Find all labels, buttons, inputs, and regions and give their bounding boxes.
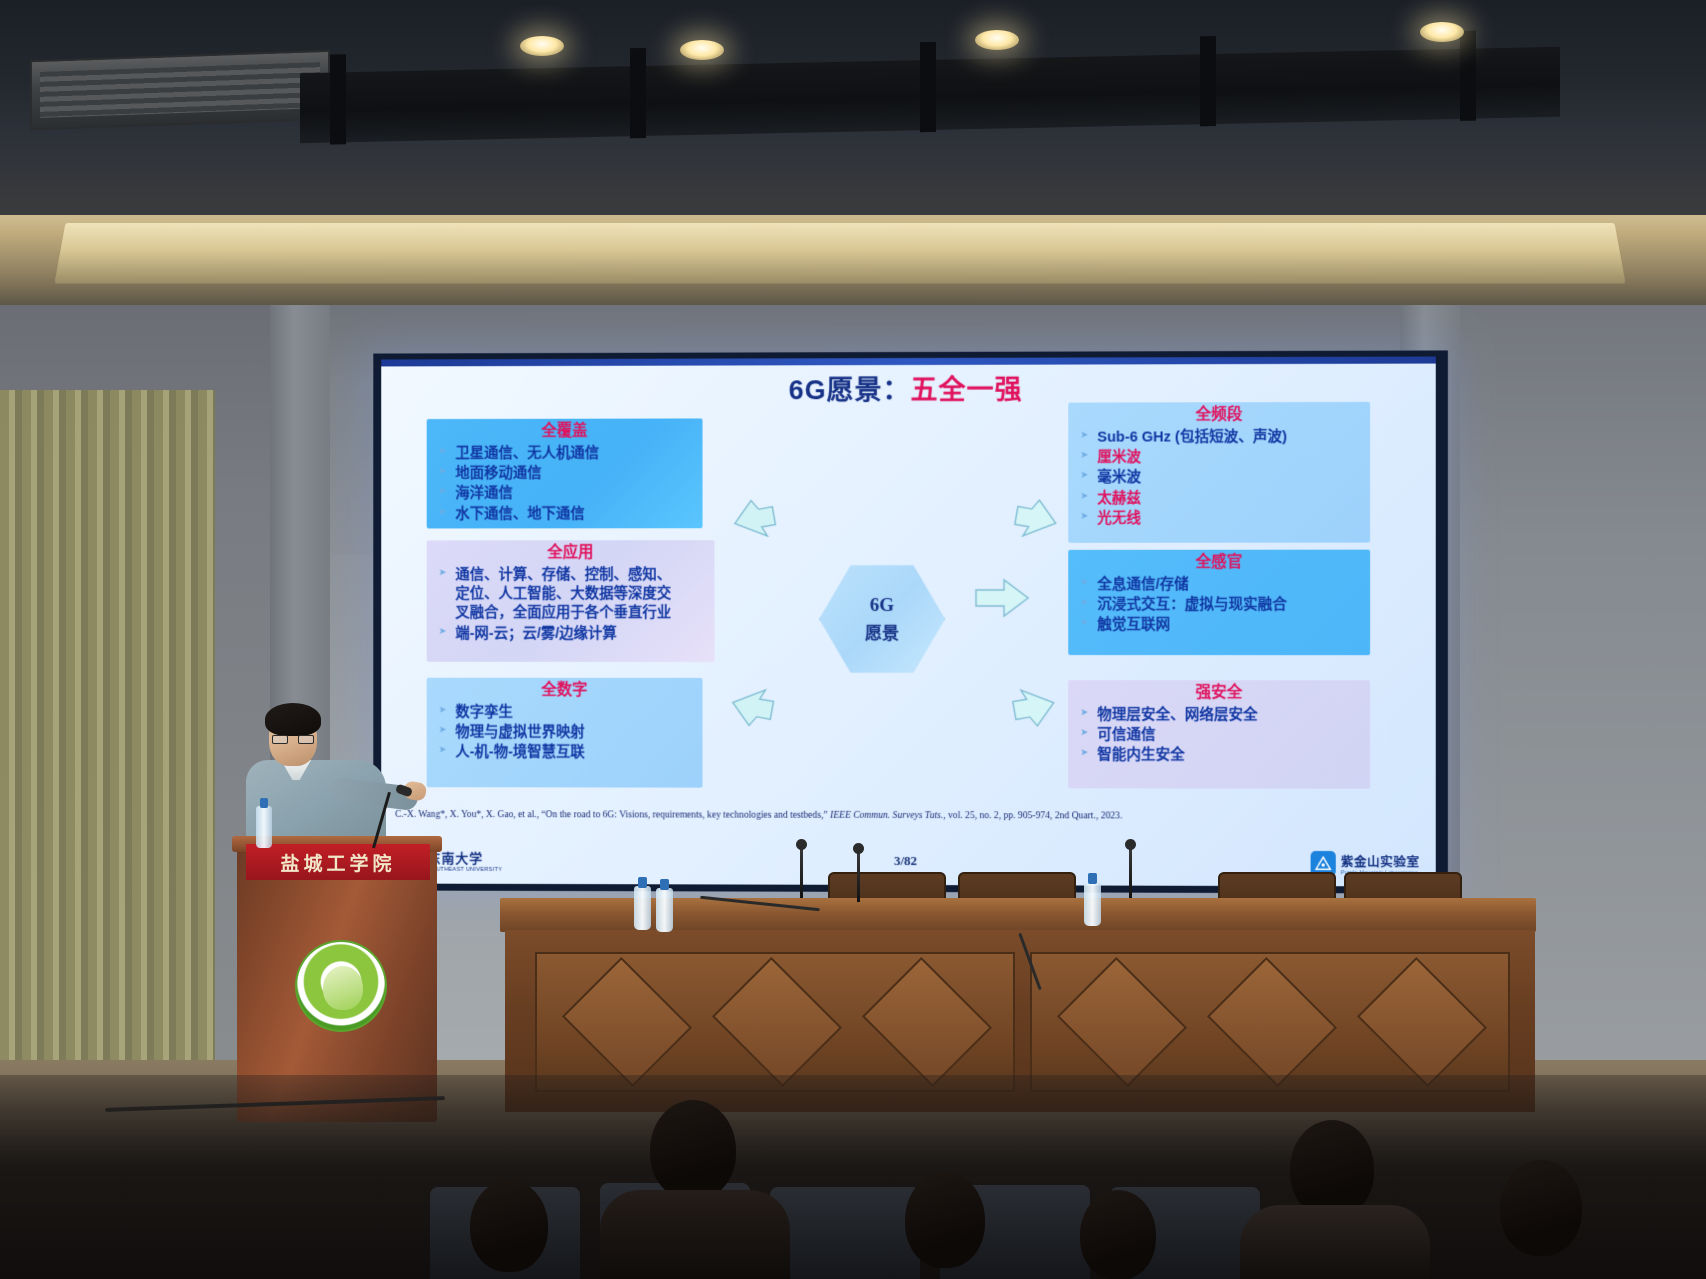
table-diamond-ornament [862,957,992,1087]
list-item: 全息通信/存储 [1080,575,1364,595]
list-item: 通信、计算、存储、控制、感知、定位、人工智能、大数据等深度交叉融合，全面应用于各… [439,566,709,624]
wall-curtain [0,390,215,1090]
water-bottle [256,806,272,848]
list-item: 智能内生安全 [1080,747,1364,767]
presentation-slide: 6G愿景：五全一强 全覆盖 卫星通信、无人机通信 地面移动通信 海洋通信 水下通… [381,357,1436,887]
slide-title-highlight: 五全一强 [911,375,1023,405]
ceiling-spotlight [680,40,724,60]
table-microphone [800,846,803,898]
slide-title-main: 6G愿景： [789,375,911,405]
list-item: 物理层安全、网络层安全 [1080,706,1364,726]
glasses-lens-right [298,735,314,744]
box-full-coverage: 全覆盖 卫星通信、无人机通信 地面移动通信 海洋通信 水下通信、地下通信 [427,418,703,528]
water-bottle [656,888,673,932]
center-hexagon-6g-vision: 6G 愿景 [819,563,945,675]
box-list-strong-security: 物理层安全、网络层安全 可信通信 智能内生安全 [1068,706,1370,767]
list-item: Sub-6 GHz (包括短波、声波) [1080,428,1364,448]
audience-member [905,1172,985,1268]
arrow-upper-right-icon [988,498,1060,570]
box-title-full-application: 全应用 [427,544,715,563]
audience-member [1080,1190,1156,1279]
arrow-lower-left-icon [728,658,800,730]
box-title-full-spectrum: 全频段 [1068,406,1370,425]
box-title-strong-security: 强安全 [1068,684,1370,703]
box-list-full-coverage: 卫星通信、无人机通信 地面移动通信 海洋通信 水下通信、地下通信 [427,444,703,525]
audience-member-body [600,1190,790,1279]
list-item: 卫星通信、无人机通信 [439,444,697,464]
list-item-line: 通信、计算、存储、控制、感知、 [455,567,671,583]
table-panel-right [1030,952,1510,1092]
table-diamond-ornament [1207,957,1337,1087]
ceiling-spotlight [1420,22,1464,42]
audience-member [1500,1160,1582,1256]
hexagon-line-2: 愿景 [865,619,899,644]
box-full-application: 全应用 通信、计算、存储、控制、感知、定位、人工智能、大数据等深度交叉融合，全面… [427,540,715,662]
list-item: 端-网-云；云/雾/边缘计算 [439,625,709,644]
citation-paper-title: “On the road to 6G: Visions, requirement… [541,809,827,821]
beam-tooth [920,42,936,132]
list-item: 太赫兹 [1080,489,1364,509]
ceiling-soffit-inner [54,223,1625,284]
table-diamond-ornament [712,957,842,1087]
list-item-label: 太赫兹 [1097,491,1141,507]
list-item: 地面移动通信 [439,464,697,484]
citation-details: , vol. 25, no. 2, pp. 905-974, 2nd Quart… [943,810,1122,821]
list-item: 物理与虚拟世界映射 [439,724,697,744]
arrow-lower-right-icon [986,658,1058,730]
pml-logo-cn: 紫金山实验室 [1341,851,1420,870]
beam-tooth [1460,31,1476,121]
table-diamond-ornament [562,957,692,1087]
table-diamond-ornament [1057,957,1187,1087]
table-panel-left [535,952,1015,1092]
podium-banner: 盐城工学院 [246,844,430,880]
beam-tooth [630,48,646,138]
arrow-upper-left-icon [730,498,802,570]
beam-tooth [1200,36,1216,126]
list-item: 人-机-物-境智慧互联 [439,744,697,764]
citation: C.-X. Wang*, X. You*, X. Gao, et al., “O… [395,809,1425,823]
box-full-sensory: 全感官 全息通信/存储 沉浸式交互：虚拟与现实融合 触觉互联网 [1068,550,1370,656]
podium-banner-text: 盐城工学院 [280,849,395,876]
audience-member [1290,1120,1374,1218]
list-item-line: 定位、人工智能、大数据等深度交 [455,585,708,604]
arrow-right-icon [974,576,1034,620]
table-microphone [1129,846,1132,898]
slide-page-number: 3/82 [381,852,1436,871]
hexagon-line-1: 6G [870,595,894,617]
list-item: 毫米波 [1080,469,1364,489]
beam-tooth [330,54,346,144]
podium-school-emblem-icon [295,940,387,1032]
box-title-full-coverage: 全覆盖 [427,422,703,441]
list-item: 光无线 [1080,510,1364,530]
auditorium-seat [770,1187,920,1279]
box-list-full-sensory: 全息通信/存储 沉浸式交互：虚拟与现实融合 触觉互联网 [1068,575,1370,636]
air-conditioner-vent [40,62,320,118]
box-list-full-spectrum: Sub-6 GHz (包括短波、声波) 厘米波 毫米波 太赫兹 光无线 [1068,428,1370,530]
box-full-digital: 全数字 数字孪生 物理与虚拟世界映射 人-机-物-境智慧互联 [427,678,703,788]
list-item: 可信通信 [1080,726,1364,746]
speaker-glasses-icon [272,735,314,744]
list-item-label: 厘米波 [1097,450,1141,466]
box-title-full-digital: 全数字 [427,682,703,701]
lecture-hall-scene: 6G愿景：五全一强 全覆盖 卫星通信、无人机通信 地面移动通信 海洋通信 水下通… [0,0,1706,1279]
glasses-lens-left [272,735,288,744]
water-bottle [1084,882,1101,926]
list-item: 沉浸式交互：虚拟与现实融合 [1080,596,1364,616]
box-title-full-sensory: 全感官 [1068,554,1370,573]
box-strong-security: 强安全 物理层安全、网络层安全 可信通信 智能内生安全 [1068,680,1370,789]
audience-member-body [1240,1205,1430,1279]
ceiling-spotlight [975,30,1019,50]
citation-journal: IEEE Commun. Surveys Tuts. [830,810,943,821]
list-item: 触觉互联网 [1080,616,1364,636]
list-item-label: 光无线 [1097,511,1141,527]
air-conditioner-unit [30,50,330,130]
slide-top-bar [381,357,1436,367]
list-item: 厘米波 [1080,448,1364,468]
audience-member [650,1100,736,1200]
audience-member [470,1180,548,1272]
list-item: 数字孪生 [439,703,697,723]
box-list-full-digital: 数字孪生 物理与虚拟世界映射 人-机-物-境智慧互联 [427,703,703,763]
audience-area [0,1075,1706,1279]
box-full-spectrum: 全频段 Sub-6 GHz (包括短波、声波) 厘米波 毫米波 太赫兹 光无线 [1068,402,1370,543]
list-item: 海洋通信 [439,485,697,505]
list-item: 水下通信、地下通信 [439,505,697,525]
table-microphone [857,850,860,902]
table-diamond-ornament [1357,957,1487,1087]
ceiling-spotlight [520,36,564,56]
projection-screen: 6G愿景：五全一强 全覆盖 卫星通信、无人机通信 地面移动通信 海洋通信 水下通… [373,350,1448,893]
speaker-hair [265,703,321,736]
box-list-full-application: 通信、计算、存储、控制、感知、定位、人工智能、大数据等深度交叉融合，全面应用于各… [427,566,715,645]
list-item-line: 叉融合，全面应用于各个垂直行业 [455,604,708,623]
citation-authors: C.-X. Wang*, X. You*, X. Gao, et al., [395,809,539,820]
water-bottle [634,886,651,930]
